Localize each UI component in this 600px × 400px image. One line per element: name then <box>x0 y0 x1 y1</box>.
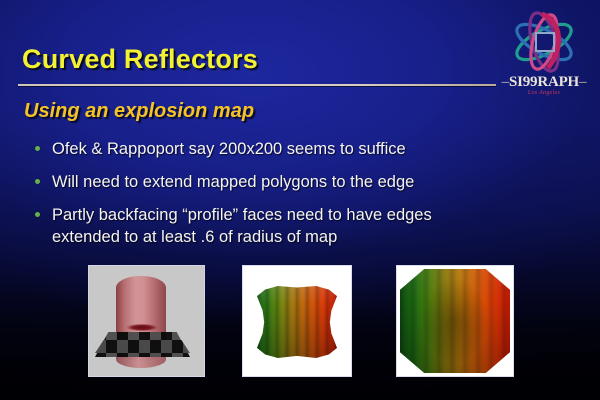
slide-title: Curved Reflectors <box>22 44 258 75</box>
reflection-highlight <box>127 324 157 331</box>
bullet-dot-icon <box>35 146 40 151</box>
bullet-list: Ofek & Rappoport say 200x200 seems to su… <box>30 138 560 259</box>
figure-cylinder-on-checkerboard <box>88 265 205 377</box>
checkerboard-floor-row2 <box>95 340 190 353</box>
bullet-text-line1: Will need to extend mapped polygons to t… <box>52 173 414 191</box>
presentation-slide: –SI99RAPH– Los Angeles Curved Reflectors… <box>0 0 600 400</box>
wordmark-dash-right: – <box>579 74 586 90</box>
bullet-text-line1: Partly backfacing “profile” faces need t… <box>52 206 432 224</box>
slide-subtitle: Using an explosion map <box>24 100 254 123</box>
figure-barrel-surface <box>242 265 352 377</box>
explosion-map-facet-shading <box>400 269 510 373</box>
figure-explosion-map <box>396 265 514 377</box>
siggraph-logo: –SI99RAPH– Los Angeles <box>492 6 596 104</box>
siggraph-location: Los Angeles <box>492 90 596 96</box>
wordmark-dash-left: – <box>502 74 509 90</box>
siggraph-wordmark: –SI99RAPH– <box>492 74 596 91</box>
title-divider <box>18 84 496 86</box>
bullet-dot-icon <box>35 212 40 217</box>
bullet-dot-icon <box>35 179 40 184</box>
list-item: Partly backfacing “profile” faces need t… <box>30 204 560 248</box>
barrel-facet-shading <box>257 286 337 358</box>
bullet-text-line2: extended to at least .6 of radius of map <box>52 226 560 248</box>
siggraph-rings-icon <box>492 6 596 78</box>
wordmark-text: SI99RAPH <box>509 74 579 90</box>
list-item: Will need to extend mapped polygons to t… <box>30 171 560 193</box>
list-item: Ofek & Rappoport say 200x200 seems to su… <box>30 138 560 160</box>
figure-row <box>0 265 600 377</box>
bullet-text-line1: Ofek & Rappoport say 200x200 seems to su… <box>52 140 406 158</box>
